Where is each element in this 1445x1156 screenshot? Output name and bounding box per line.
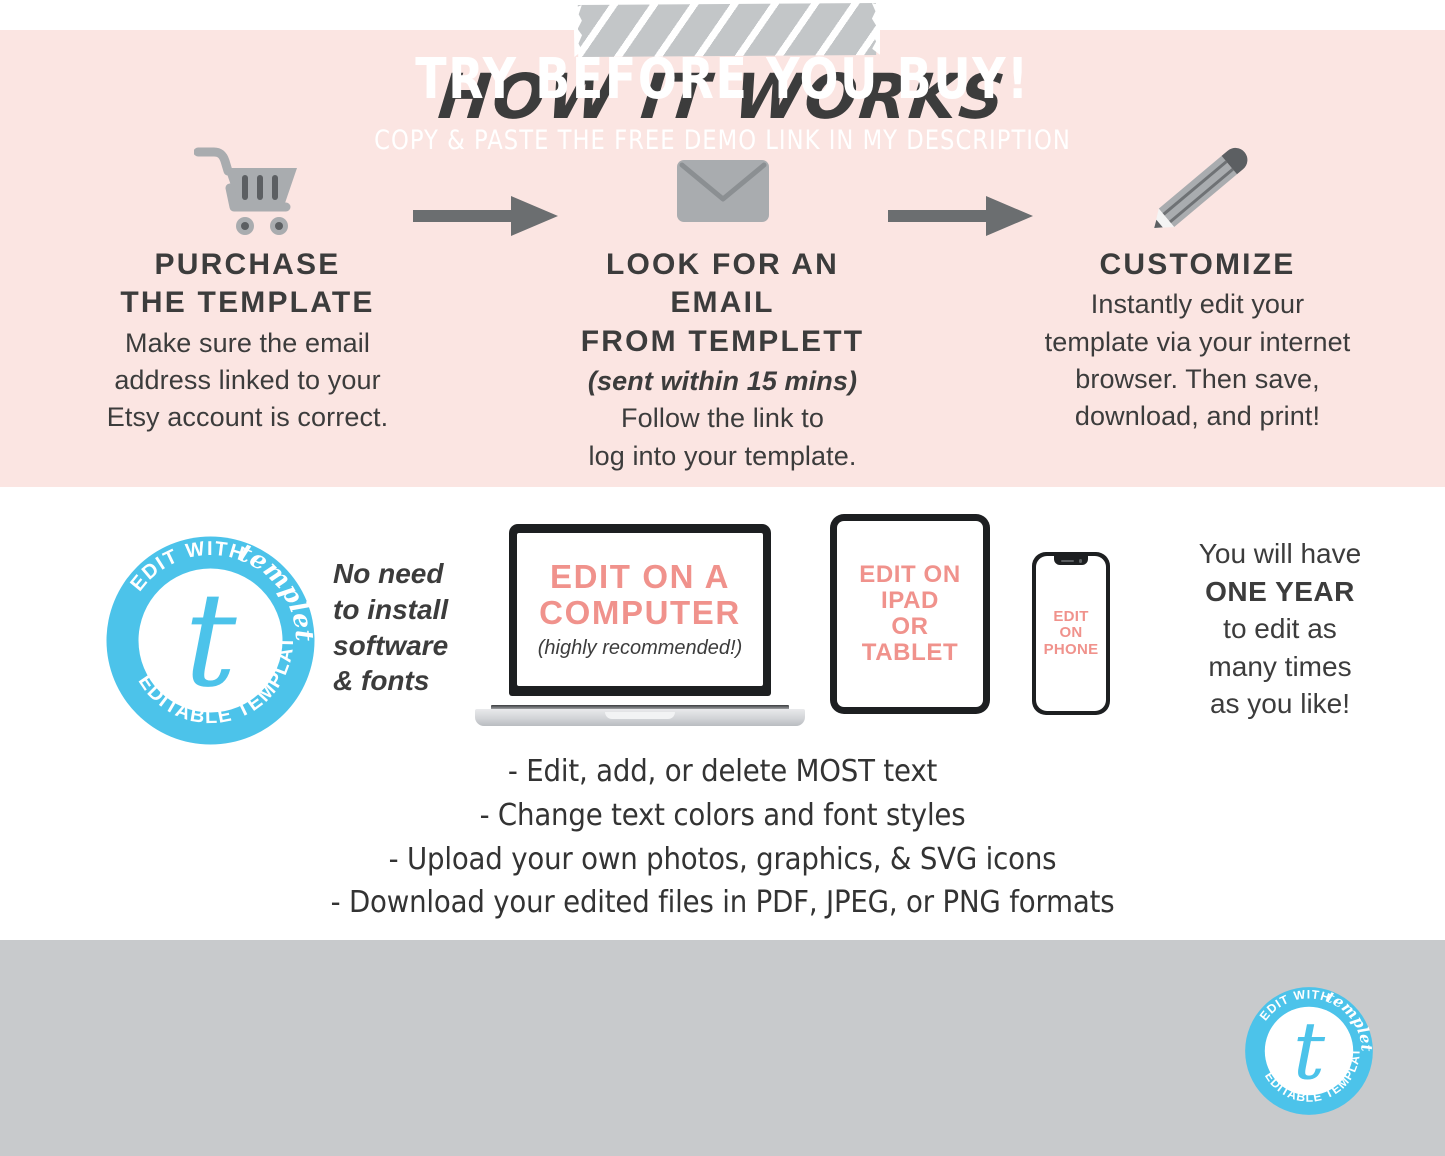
bullet-item: - Download your edited files in PDF, JPE…: [58, 881, 1387, 925]
step-body: (sent within 15 mins) Follow the link to…: [558, 363, 888, 475]
phone-notch-icon: [1054, 556, 1088, 565]
no-install-line3: software: [333, 628, 473, 664]
no-install-line2: to install: [333, 592, 473, 628]
bullet-item: - Upload your own photos, graphics, & SV…: [58, 838, 1387, 882]
phone-mockup: EDIT ON PHONE: [1032, 552, 1110, 715]
phone-screen: EDIT ON PHONE: [1036, 556, 1106, 711]
step-customize: CUSTOMIZE Instantly edit your template v…: [1033, 140, 1363, 435]
laptop-mockup: EDIT ON A COMPUTER (highly recommended!): [475, 524, 805, 728]
step-heading: CUSTOMIZE: [1033, 246, 1363, 284]
step-heading-line1: CUSTOMIZE: [1033, 246, 1363, 284]
step-heading-line1: LOOK FOR AN EMAIL: [558, 246, 888, 323]
one-year-line5: as you like!: [1120, 685, 1440, 723]
bullet-item: - Edit, add, or delete MOST text: [58, 750, 1387, 794]
laptop-lid: EDIT ON A COMPUTER (highly recommended!): [509, 524, 771, 696]
phone-line1: EDIT: [1044, 609, 1099, 626]
step-heading-line1: PURCHASE: [83, 246, 413, 284]
tablet-screen: EDIT ON IPAD OR TABLET: [837, 521, 983, 707]
step-body-line3: browser. Then save,: [1033, 361, 1363, 398]
laptop-screen: EDIT ON A COMPUTER (highly recommended!): [517, 533, 763, 686]
step-body: Instantly edit your template via your in…: [1033, 286, 1363, 435]
step-body-line3: log into your template.: [558, 438, 888, 475]
tablet-mockup: EDIT ON IPAD OR TABLET: [830, 514, 990, 714]
one-year-line4: many times: [1120, 648, 1440, 686]
step-body-line2: template via your internet: [1033, 324, 1363, 361]
step-body-line1: Instantly edit your: [1033, 286, 1363, 323]
tablet-line4: TABLET: [859, 640, 961, 666]
badge-center-letter: t: [184, 564, 237, 716]
step-body-line4: download, and print!: [1033, 398, 1363, 435]
one-year-text: You will have ONE YEAR to edit as many t…: [1120, 535, 1440, 723]
footer-section: [0, 940, 1445, 1156]
step-heading: LOOK FOR AN EMAIL FROM TEMPLETT: [558, 246, 888, 361]
footer-templett-badge: EDIT WITH templett EDITABLE TEMPLATE t: [1243, 985, 1375, 1117]
footer-badge-center-letter: t: [1293, 1004, 1326, 1097]
step-body-line3: Etsy account is correct.: [83, 399, 413, 436]
tablet-line3: OR: [859, 614, 961, 640]
steps-row: PURCHASE THE TEMPLATE Make sure the emai…: [0, 140, 1445, 460]
one-year-bold: ONE YEAR: [1120, 573, 1440, 611]
step-heading-line2: FROM TEMPLETT: [558, 323, 888, 361]
laptop-screen-note: (highly recommended!): [538, 637, 743, 660]
tablet-line2: IPAD: [859, 588, 961, 614]
phone-line2: ON: [1044, 625, 1099, 642]
one-year-line3: to edit as: [1120, 610, 1440, 648]
no-install-text: No need to install software & fonts: [333, 556, 473, 699]
bullet-item: - Change text colors and font styles: [58, 794, 1387, 838]
laptop-screen-line1: EDIT ON A: [550, 559, 730, 595]
step-body-line2: address linked to your: [83, 362, 413, 399]
phone-line3: PHONE: [1044, 642, 1099, 659]
step-body-line1: Make sure the email: [83, 325, 413, 362]
step-purchase: PURCHASE THE TEMPLATE Make sure the emai…: [83, 140, 413, 437]
step-body-line2: Follow the link to: [558, 400, 888, 437]
arrow-right-icon: [413, 192, 558, 240]
laptop-screen-line2: COMPUTER: [539, 595, 741, 631]
arrow-right-icon: [888, 192, 1033, 240]
laptop-base: [475, 709, 805, 726]
tablet-line1: EDIT ON: [859, 562, 961, 588]
step-body: Make sure the email address linked to yo…: [83, 325, 413, 437]
feature-bullets: - Edit, add, or delete MOST text - Chang…: [0, 750, 1445, 925]
footer-title: TRY BEFORE YOU BUY!: [130, 47, 1315, 112]
no-install-line4: & fonts: [333, 663, 473, 699]
step-heading-line2: THE TEMPLATE: [83, 284, 413, 322]
step-heading: PURCHASE THE TEMPLATE: [83, 246, 413, 323]
footer-subtitle: COPY & PASTE THE FREE DEMO LINK IN MY DE…: [116, 125, 1330, 156]
templett-badge: EDIT WITH templett EDITABLE TEMPLATE t: [103, 533, 318, 748]
step-look-for-email: LOOK FOR AN EMAIL FROM TEMPLETT (sent wi…: [558, 140, 888, 475]
no-install-line1: No need: [333, 556, 473, 592]
step-body-italic: (sent within 15 mins): [558, 363, 888, 400]
one-year-line1: You will have: [1120, 535, 1440, 573]
